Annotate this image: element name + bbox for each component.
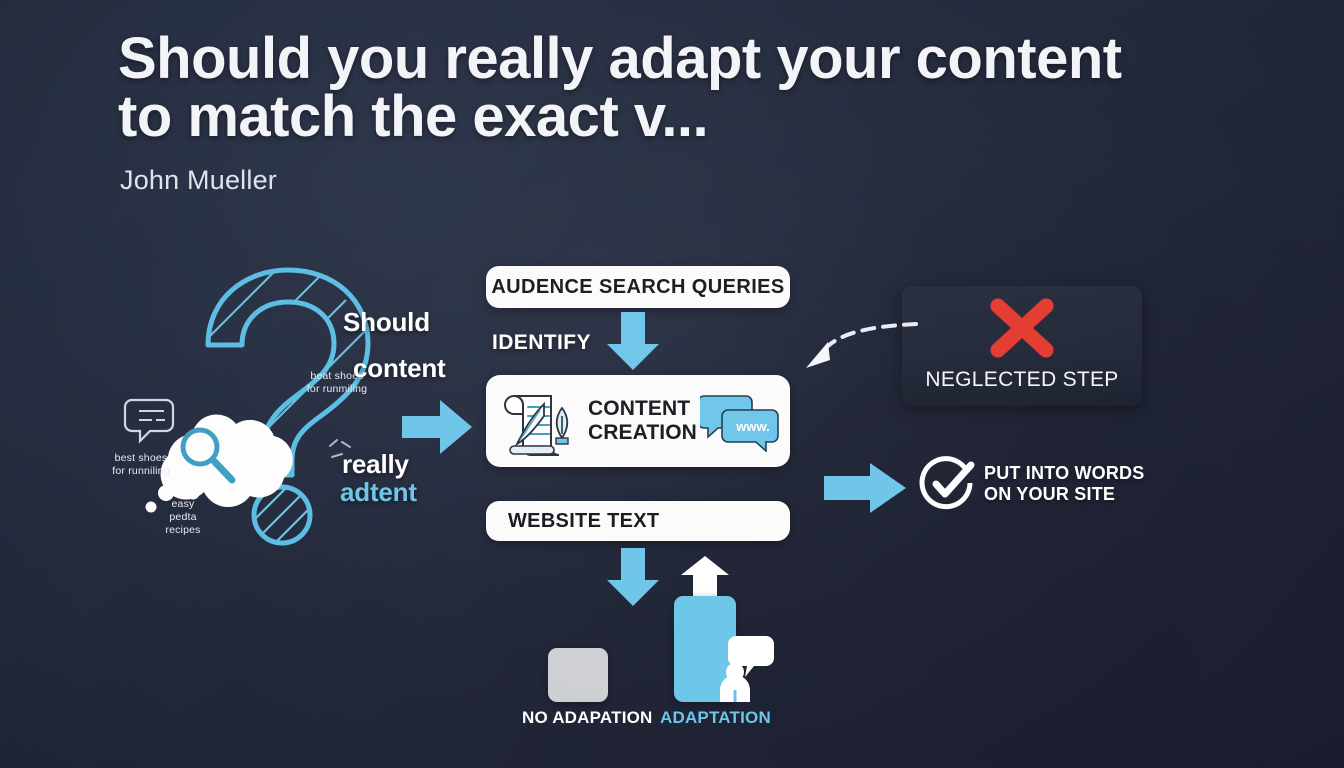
arrow-down-to-compare-icon (604, 546, 662, 608)
www-speech-bubbles-icon: www. (700, 390, 780, 452)
scroll-quill-pen-icon (500, 386, 576, 456)
audience-search-queries-box[interactable]: AUDENCE SEARCH QUERIES (486, 266, 790, 308)
overlay-word-really: really (342, 449, 409, 480)
x-cross-icon (984, 292, 1060, 364)
no-adaptation-caption: NO ADAPATION (522, 708, 653, 728)
tiny-label-2: easypedtarecipes (150, 498, 216, 537)
arrow-down-identify-icon (604, 310, 662, 372)
content-creation-line2: CREATION (588, 421, 700, 445)
website-text-box[interactable]: WEBSITE TEXT (486, 501, 790, 541)
no-adaptation-card (548, 648, 608, 702)
author-byline: John Mueller (120, 165, 277, 196)
chat-bubble-icon (125, 400, 173, 441)
put-into-words-text: PUT INTO WORDS ON YOUR SITE (984, 463, 1144, 505)
arrow-right-put-into-words-icon (822, 460, 908, 516)
identify-label: IDENTIFY (492, 331, 591, 355)
overlay-word-should: Should (343, 307, 430, 338)
www-bubble-text: www. (735, 419, 769, 434)
content-creation-line1: CONTENT (588, 397, 700, 421)
slide-canvas: Should you really adapt your content to … (0, 0, 1344, 768)
overlay-word-content: content (353, 353, 445, 384)
put-into-words-line1: PUT INTO WORDS (984, 463, 1144, 484)
dashed-curved-arrow-icon (790, 312, 920, 380)
neglected-step-panel[interactable]: NEGLECTED STEP (902, 286, 1142, 406)
neglected-step-label: NEGLECTED STEP (902, 368, 1142, 392)
overlay-word-adtent: adtent (340, 477, 417, 508)
arrow-right-to-flow-icon (400, 396, 476, 458)
content-creation-box[interactable]: CONTENT CREATION www. (486, 375, 790, 467)
check-circle-icon (918, 455, 978, 515)
audience-search-queries-label: AUDENCE SEARCH QUERIES (491, 276, 784, 299)
page-title: Should you really adapt your content to … (118, 30, 1128, 146)
website-text-label: WEBSITE TEXT (508, 510, 659, 533)
content-creation-title: CONTENT CREATION (588, 397, 700, 444)
put-into-words-line2: ON YOUR SITE (984, 484, 1144, 505)
tiny-label-1: best shoesfor runniling (98, 452, 184, 478)
adaptation-caption: ADAPTATION (660, 708, 771, 728)
person-speech-bubble-icon (718, 630, 774, 702)
